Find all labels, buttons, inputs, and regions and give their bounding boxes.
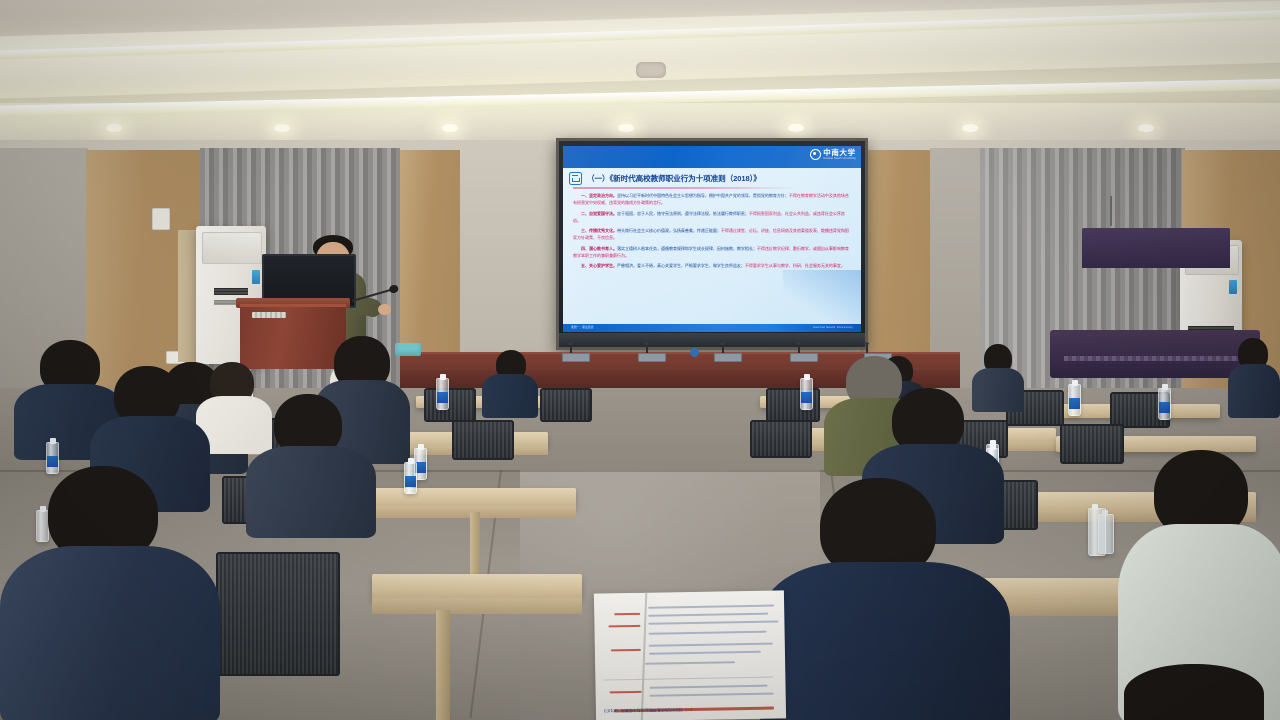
- slide-item-heading: 关心爱护学生。: [589, 263, 617, 268]
- drape-trim: [1064, 356, 1244, 361]
- draped-side-table: [1082, 228, 1230, 268]
- nameplate: [562, 353, 590, 362]
- slide-item-heading: 传播优秀文化。: [589, 228, 617, 233]
- bottle-label: [405, 476, 416, 487]
- slide-item: 四、潜心教书育人。落实立德树人根本任务，遵循教育规律和学生成长规律，因材施教，教…: [573, 245, 851, 259]
- university-name-cn: 中南大学: [823, 149, 856, 157]
- slide-footer-left: 准则一：职业道德: [571, 325, 593, 329]
- university-name-en: Central South University: [823, 157, 856, 160]
- slide-item-number: 三、: [581, 228, 589, 233]
- slide-item-body: 带头践行社会主义核心价值观，弘扬真善美，传递正能量；: [617, 228, 721, 233]
- slide-item-heading: 潜心教书育人。: [589, 246, 617, 251]
- torso: [1228, 364, 1280, 418]
- nameplate: [790, 353, 818, 362]
- water-bottle[interactable]: [1068, 384, 1081, 416]
- slide-item-prohibition: 不得要求学生从事与教学、科研、社会服务无关的事宜。: [745, 263, 845, 268]
- audience-desk: [372, 574, 582, 600]
- mesh-office-chair[interactable]: [750, 420, 812, 458]
- desk-leg: [436, 610, 450, 720]
- slide-footer-bar: 准则一：职业道德 Central South University: [563, 324, 861, 332]
- slide-item-number: 五、: [581, 263, 589, 268]
- downlight: [442, 124, 458, 132]
- downlight: [618, 124, 634, 132]
- water-bottle[interactable]: [436, 378, 449, 410]
- water-bottle[interactable]: [404, 462, 417, 494]
- water-bottle[interactable]: [1158, 388, 1171, 420]
- slide-title: （一）《新时代高校教师职业行为十项准则（2018）》: [587, 173, 761, 184]
- screen-bezel: [559, 333, 865, 347]
- ac-display-grille: [214, 288, 248, 295]
- downlight: [106, 124, 122, 132]
- slide-item: 三、传播优秀文化。带头践行社会主义核心价值观，弘扬真善美，传递正能量；不得通过课…: [573, 227, 851, 241]
- audience-member: [0, 466, 220, 720]
- bottle-label: [1159, 402, 1170, 413]
- slide-item-body: 严慈相济，爱人不倦，真心关爱学生，严格要求学生，做学生良师益友；: [617, 263, 745, 268]
- wall-switch-panel[interactable]: [152, 208, 170, 230]
- book-outline-icon: [569, 172, 582, 185]
- printed-slide-handout[interactable]: （一）《新时代高校教师职业行为十项准则（2018）》: [594, 590, 786, 720]
- university-seal-icon: [810, 149, 821, 160]
- nameplate: [714, 353, 742, 362]
- slide-item-heading: 坚定政治方向。: [589, 193, 617, 198]
- slide-item: 五、关心爱护学生。严慈相济，爱人不倦，真心关爱学生，严格要求学生，做学生良师益友…: [573, 262, 851, 269]
- torso: [246, 446, 376, 538]
- bottle-label: [437, 392, 448, 403]
- slide-title-row: （一）《新时代高校教师职业行为十项准则（2018）》: [569, 170, 855, 186]
- slide-item-heading: 自觉爱国守法。: [589, 211, 617, 216]
- slide-item-number: 一、: [581, 193, 589, 198]
- slide-header-bar: 中南大学 Central South University: [563, 146, 861, 168]
- university-logo: 中南大学 Central South University: [810, 149, 856, 160]
- downlight: [788, 124, 804, 132]
- slide-item-number: 四、: [581, 246, 589, 251]
- slide-title-underline: [573, 187, 797, 189]
- slide-corner-decoration: [783, 270, 861, 324]
- slide-body: 一、坚定政治方向。坚持以习近平新时代中国特色社会主义思想为指导，拥护中国共产党的…: [573, 192, 851, 273]
- energy-label-icon: [252, 270, 260, 284]
- slide-item-body: 落实立德树人根本任务，遵循教育规律和学生成长规律，因材施教，教学相长；: [617, 246, 757, 251]
- slide-item-body: 坚持以习近平新时代中国特色社会主义思想为指导，拥护中国共产党的领导，贯彻党的教育…: [617, 193, 789, 198]
- presenter-hand: [378, 304, 391, 315]
- desk-indicator-light: [690, 348, 699, 357]
- audience-member: [1118, 664, 1268, 720]
- desk-edge: [372, 598, 582, 614]
- handout-fold: [641, 593, 647, 720]
- nameplate: [638, 353, 666, 362]
- slide-item: 一、坚定政治方向。坚持以习近平新时代中国特色社会主义思想为指导，拥护中国共产党的…: [573, 192, 851, 206]
- cable: [1110, 196, 1112, 226]
- slide-footer-right: Central South University: [813, 325, 853, 329]
- audience-member: [760, 478, 1010, 720]
- led-video-wall[interactable]: 中南大学 Central South University （一）《新时代高校教…: [556, 138, 868, 350]
- mesh-office-chair[interactable]: [424, 388, 476, 422]
- head: [1124, 664, 1264, 720]
- water-bottle[interactable]: [1088, 508, 1106, 556]
- downlight: [274, 124, 290, 132]
- slide-item: 二、自觉爱国守法。忠于祖国，忠于人民，恪守宪法原则，遵守法律法规，依法履行教师职…: [573, 210, 851, 224]
- energy-label-icon: [1229, 280, 1237, 294]
- ceiling-access-plate: [636, 62, 666, 78]
- lecture-room-photo: 中南大学 Central South University （一）《新时代高校教…: [0, 0, 1280, 720]
- torso: [482, 374, 538, 418]
- bottle-label: [1069, 398, 1080, 409]
- audience-member: [1228, 338, 1280, 414]
- downlight: [1138, 124, 1154, 132]
- podium-nameplate: [252, 312, 286, 318]
- audience-member: [246, 394, 376, 530]
- audience-member: [482, 350, 538, 412]
- torso-hoodie: [0, 546, 220, 720]
- torso: [760, 562, 1010, 720]
- mesh-office-chair[interactable]: [540, 388, 592, 422]
- downlight: [962, 124, 978, 132]
- mesh-office-chair[interactable]: [216, 552, 340, 676]
- bottle-label: [801, 392, 812, 403]
- slide-item-number: 二、: [581, 211, 589, 216]
- presentation-slide: 中南大学 Central South University （一）《新时代高校教…: [563, 146, 861, 332]
- water-bottle[interactable]: [800, 378, 813, 410]
- slide-item-body: 忠于祖国，忠于人民，恪守宪法原则，遵守法律法规，依法履行教师职责；: [617, 211, 749, 216]
- ac-vent-panel: [202, 232, 262, 264]
- mesh-office-chair[interactable]: [1060, 424, 1124, 464]
- mesh-office-chair[interactable]: [452, 420, 514, 460]
- handout-title: （一）《新时代高校教师职业行为十项准则（2018）》: [602, 706, 695, 714]
